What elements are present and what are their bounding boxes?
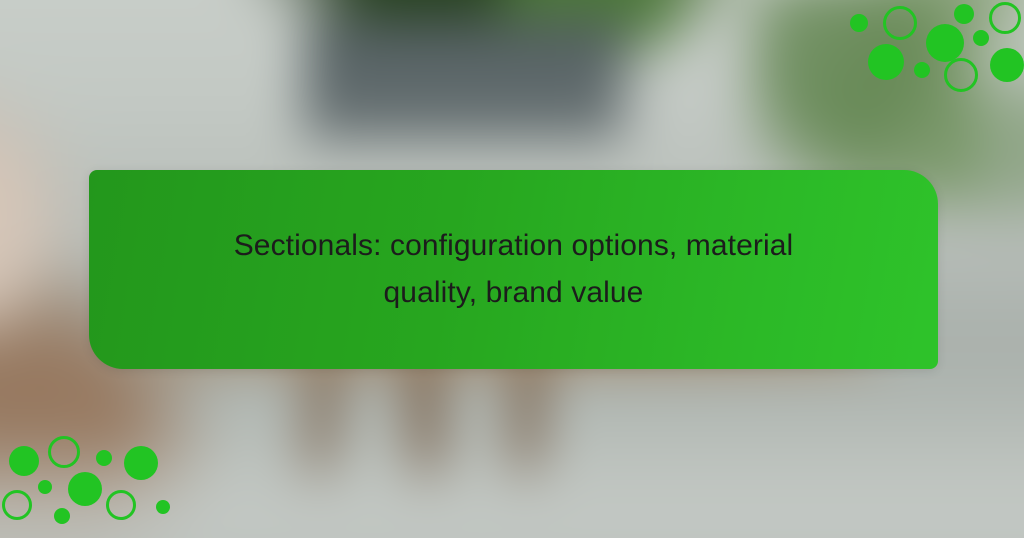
decorative-circle-solid — [96, 450, 112, 466]
decorative-circle-solid — [868, 44, 904, 80]
background-plant-dark — [320, 0, 570, 40]
decorative-circle-solid — [926, 24, 964, 62]
decorative-circle-solid — [156, 500, 170, 514]
background-table-leg — [304, 354, 341, 481]
background-floor — [0, 428, 1024, 538]
decorative-circle-outline — [944, 58, 978, 92]
background-table-leg — [510, 352, 544, 479]
decorative-circle-outline — [989, 2, 1021, 34]
decorative-circle-solid — [990, 48, 1024, 82]
background-plant-light — [500, 0, 700, 60]
decorative-circle-outline — [106, 490, 136, 520]
caption-banner: Sectionals: configuration options, mater… — [89, 170, 938, 369]
decorative-circle-solid — [9, 446, 39, 476]
background-table-leg — [405, 351, 446, 481]
decorative-circle-solid — [124, 446, 158, 480]
decorative-circle-outline — [883, 6, 917, 40]
decorative-dots-bottom-left — [0, 428, 200, 538]
decorative-circle-solid — [914, 62, 930, 78]
decorative-circle-outline — [2, 490, 32, 520]
decorative-dots-top-right — [834, 0, 1024, 100]
decorative-circle-solid — [54, 508, 70, 524]
decorative-circle-solid — [954, 4, 974, 24]
decorative-circle-solid — [38, 480, 52, 494]
decorative-circle-solid — [973, 30, 989, 46]
screenshot-canvas: Sectionals: configuration options, mater… — [0, 0, 1024, 538]
decorative-circle-solid — [850, 14, 868, 32]
caption-text: Sectionals: configuration options, mater… — [194, 223, 834, 316]
background-planter-box — [303, 18, 627, 140]
decorative-circle-solid — [68, 472, 102, 506]
decorative-circle-outline — [48, 436, 80, 468]
